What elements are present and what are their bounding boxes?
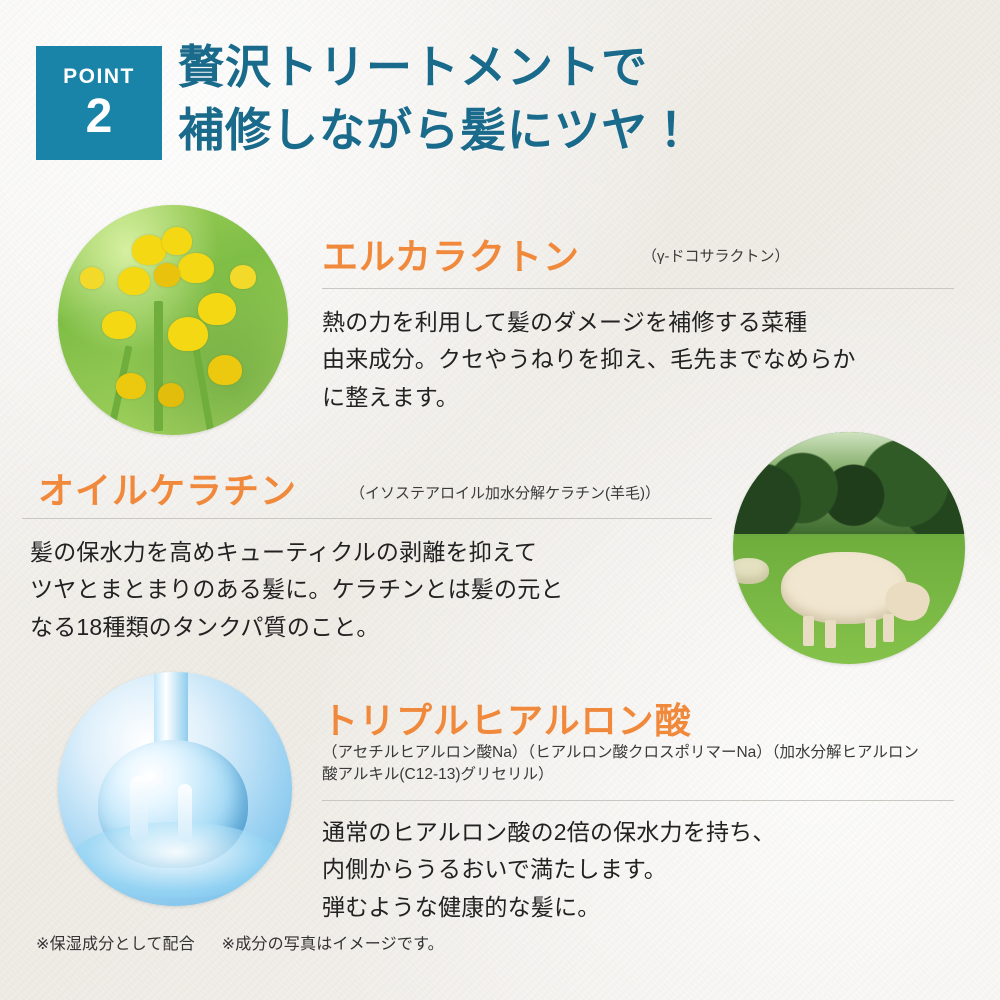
ingredient-2-body-line-3: なる18種類のタンクパ質のこと。 (30, 609, 720, 646)
footnote-1: ※保湿成分として配合 (36, 936, 195, 953)
ingredient-1-divider (322, 288, 954, 289)
ingredient-3-subtitle-line-2: 酸アルキル(C12-13)グリセリル） (322, 764, 972, 786)
ingredient-3-divider (322, 800, 954, 801)
point-badge: POINT 2 (36, 46, 162, 160)
footnote-2: ※成分の写真はイメージです。 (222, 936, 444, 953)
ingredient-3-body-line-2: 内側からうるおいで満たします。 (322, 851, 962, 888)
point-badge-word: POINT (63, 66, 135, 87)
water-drop-photo (58, 672, 292, 906)
ingredient-3-title: トリプルヒアルロン酸 (322, 692, 692, 744)
ingredient-3-body-line-3: 弾むような健康的な髪に。 (322, 889, 962, 926)
ingredient-1-body: 熱の力を利用して髪のダメージを補修する菜種 由来成分。クセやうねりを抑え、毛先ま… (322, 304, 962, 416)
ingredient-3-body: 通常のヒアルロン酸の2倍の保水力を持ち、 内側からうるおいで満たします。 弾むよ… (322, 814, 962, 926)
ingredient-2-body: 髪の保水力を高めキューティクルの剥離を抑えて ツヤとまとまりのある髪に。ケラチン… (30, 534, 720, 646)
rapeseed-flower-photo (58, 205, 288, 435)
ingredient-1-body-line-2: 由来成分。クセやうねりを抑え、毛先までなめらか (322, 341, 962, 378)
point-badge-number: 2 (86, 93, 113, 141)
ingredient-2-subtitle: （イソステアロイル加水分解ケラチン(羊毛)） (350, 482, 660, 503)
ingredient-1-title: エルカラクトン (322, 228, 580, 280)
footnotes: ※保湿成分として配合 ※成分の写真はイメージです。 (36, 930, 466, 954)
ingredient-3-subtitle: （アセチルヒアルロン酸Na）（ヒアルロン酸クロスポリマーNa）（加水分解ヒアルロ… (322, 742, 972, 787)
ingredient-2-body-line-1: 髪の保水力を高めキューティクルの剥離を抑えて (30, 534, 720, 571)
ingredient-3-subtitle-line-1: （アセチルヒアルロン酸Na）（ヒアルロン酸クロスポリマーNa）（加水分解ヒアルロ… (322, 742, 972, 764)
ingredient-1-body-line-3: に整えます。 (322, 379, 962, 416)
page-title: 贅沢トリートメントで 補修しながら髪にツヤ！ (178, 36, 988, 163)
headline-line-1: 贅沢トリートメントで (178, 36, 988, 99)
point2-infographic: POINT 2 贅沢トリートメントで 補修しながら髪にツヤ！ エルカラクトン （… (0, 0, 1000, 1000)
ingredient-1-subtitle: （γ-ドコサラクトン） (642, 245, 790, 266)
ingredient-3-body-line-1: 通常のヒアルロン酸の2倍の保水力を持ち、 (322, 814, 962, 851)
headline-line-2: 補修しながら髪にツヤ！ (178, 99, 988, 162)
ingredient-2-body-line-2: ツヤとまとまりのある髪に。ケラチンとは髪の元と (30, 571, 720, 608)
ingredient-2-title: オイルケラチン (38, 462, 297, 514)
sheep-pasture-photo (733, 432, 965, 664)
ingredient-2-divider (22, 518, 712, 519)
ingredient-1-body-line-1: 熱の力を利用して髪のダメージを補修する菜種 (322, 304, 962, 341)
